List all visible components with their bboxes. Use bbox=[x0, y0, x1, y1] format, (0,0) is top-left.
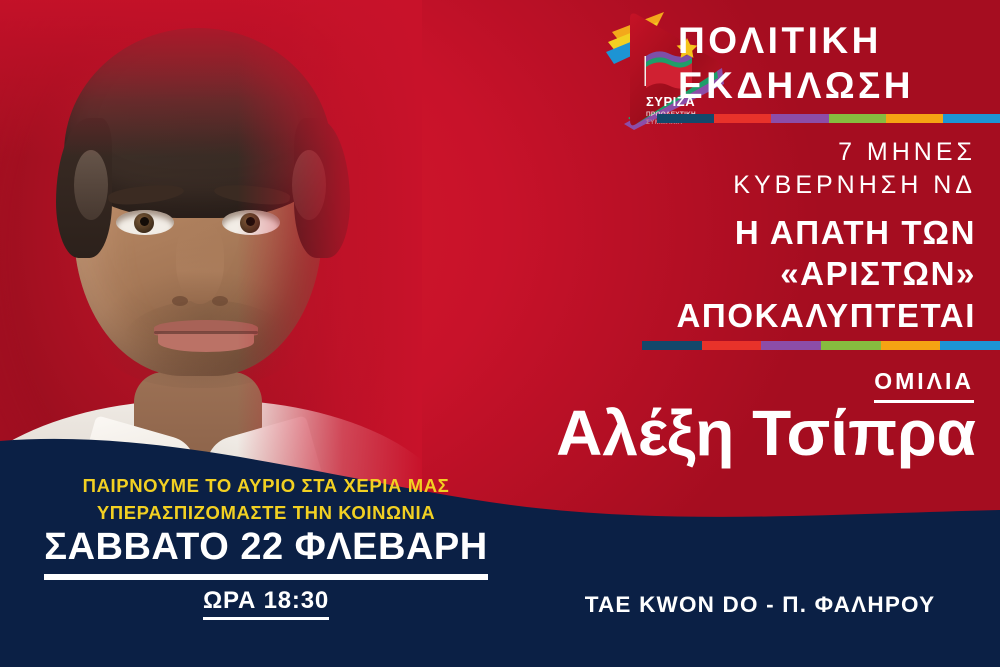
event-subject: 7 ΜΗΝΕΣ ΚΥΒΕΡΝΗΣΗ ΝΔ Η ΑΠΑΤΗ ΤΩΝ «ΑΡΙΣΤΩ… bbox=[376, 136, 976, 336]
campaign-poster: ΣΥΡΙΖΑ ΠΡΟΟΔΕΥΤΙΚΗ ΣΥΜΜΑΧΙΑ ΠΟΛΙΤΙΚΗ ΕΚΔ… bbox=[0, 0, 1000, 667]
header-line-2: ΕΚΔΗΛΩΣΗ bbox=[678, 63, 978, 108]
slogan-line-1: ΠΑΙΡΝΟΥΜΕ ΤΟ ΑΥΡΙΟ ΣΤΑ ΧΕΡΙΑ ΜΑΣ bbox=[0, 472, 532, 499]
event-date-wrap: ΣΑΒΒΑΤΟ 22 ΦΛΕΒΑΡΗ bbox=[0, 528, 532, 580]
headline-line-2: «ΑΡΙΣΤΩΝ» bbox=[376, 253, 976, 295]
header-line-1: ΠΟΛΙΤΙΚΗ bbox=[678, 18, 978, 63]
headline-line-3: ΑΠΟΚΑΛΥΠΤΕΤΑΙ bbox=[376, 295, 976, 337]
headline-line-1: Η ΑΠΑΤΗ ΤΩΝ bbox=[376, 212, 976, 254]
event-time-wrap: ΩΡΑ 18:30 bbox=[0, 588, 532, 620]
slogan-line-2: ΥΠΕΡΑΣΠΙΖΟΜΑΣΤΕ ΤΗΝ ΚΟΙΝΩΝΙΑ bbox=[0, 499, 532, 526]
color-stripe-bottom bbox=[642, 341, 1000, 350]
poster-header: ΠΟΛΙΤΙΚΗ ΕΚΔΗΛΩΣΗ bbox=[678, 18, 978, 108]
event-slogan: ΠΑΙΡΝΟΥΜΕ ΤΟ ΑΥΡΙΟ ΣΤΑ ΧΕΡΙΑ ΜΑΣ ΥΠΕΡΑΣΠ… bbox=[0, 472, 532, 526]
event-date: ΣΑΒΒΑΤΟ 22 ΦΛΕΒΑΡΗ bbox=[44, 528, 487, 580]
kicker-line-1: 7 ΜΗΝΕΣ bbox=[376, 136, 976, 169]
event-time: ΩΡΑ 18:30 bbox=[203, 588, 329, 620]
color-stripe-top bbox=[657, 114, 1000, 123]
kicker-line-2: ΚΥΒΕΡΝΗΣΗ ΝΔ bbox=[376, 169, 976, 202]
event-venue: TAE KWON DO - Π. ΦΑΛΗΡΟΥ bbox=[540, 592, 980, 618]
